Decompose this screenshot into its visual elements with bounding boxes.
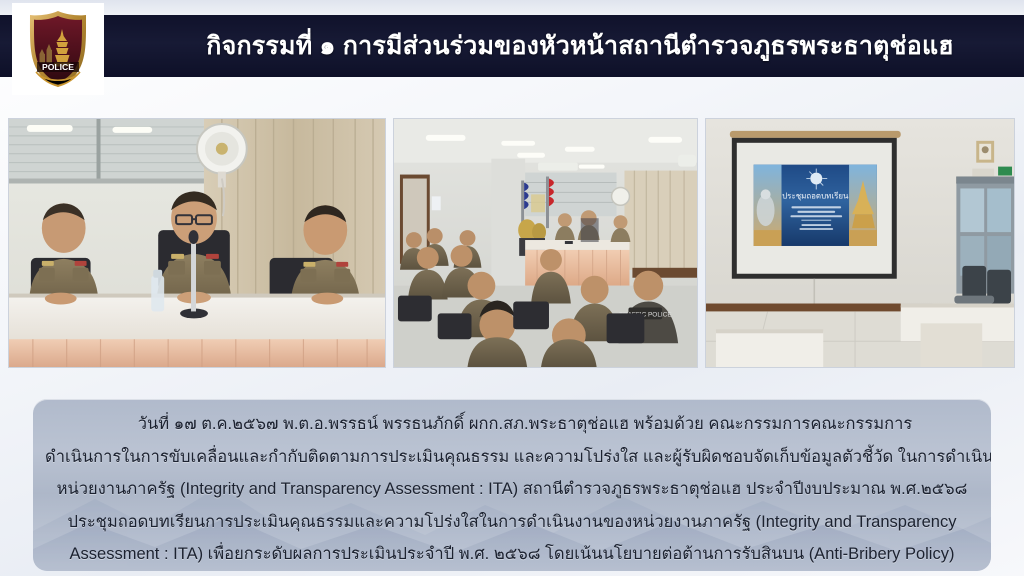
police-shield-icon: POLICE [25, 9, 91, 89]
caption-line-4: ประชุมถอดบทเรียนการประเมินคุณธรรมและความ… [45, 506, 979, 539]
caption-line-1: วันที่ ๑๗ ต.ค.๒๕๖๗ พ.ต.อ.พรรธน์ พรรธนภัก… [45, 408, 979, 441]
caption-text: วันที่ ๑๗ ต.ค.๒๕๖๗ พ.ต.อ.พรรธน์ พรรธนภัก… [33, 399, 991, 571]
caption-line-3: หน่วยงานภาครัฐ (Integrity and Transparen… [45, 473, 979, 506]
organization-logo: POLICE [12, 3, 104, 95]
presentation-slide: กิจกรรมที่ ๑ การมีส่วนร่วมของหัวหน้าสถาน… [0, 0, 1024, 576]
caption-line-5: Assessment : ITA) เพื่อยกระดับผลการประเม… [45, 538, 979, 571]
photo-projection-screen: ประชุมถอดบทเรียน [705, 118, 1015, 368]
logo-wordmark: POLICE [42, 62, 74, 72]
photo-panel-officers [8, 118, 386, 368]
page-title: กิจกรรมที่ ๑ การมีส่วนร่วมของหัวหน้าสถาน… [150, 15, 1010, 77]
photo-gallery: TRAFFIC POLICE [8, 118, 1016, 368]
slide-title-text: ประชุมถอดบทเรียน [782, 191, 849, 200]
photo-meeting-audience: TRAFFIC POLICE [393, 118, 698, 368]
caption-panel: วันที่ ๑๗ ต.ค.๒๕๖๗ พ.ต.อ.พรรธน์ พรรธนภัก… [33, 399, 991, 571]
caption-line-2: ดำเนินการในการขับเคลื่อนและกำกับติดตามกา… [45, 441, 979, 474]
